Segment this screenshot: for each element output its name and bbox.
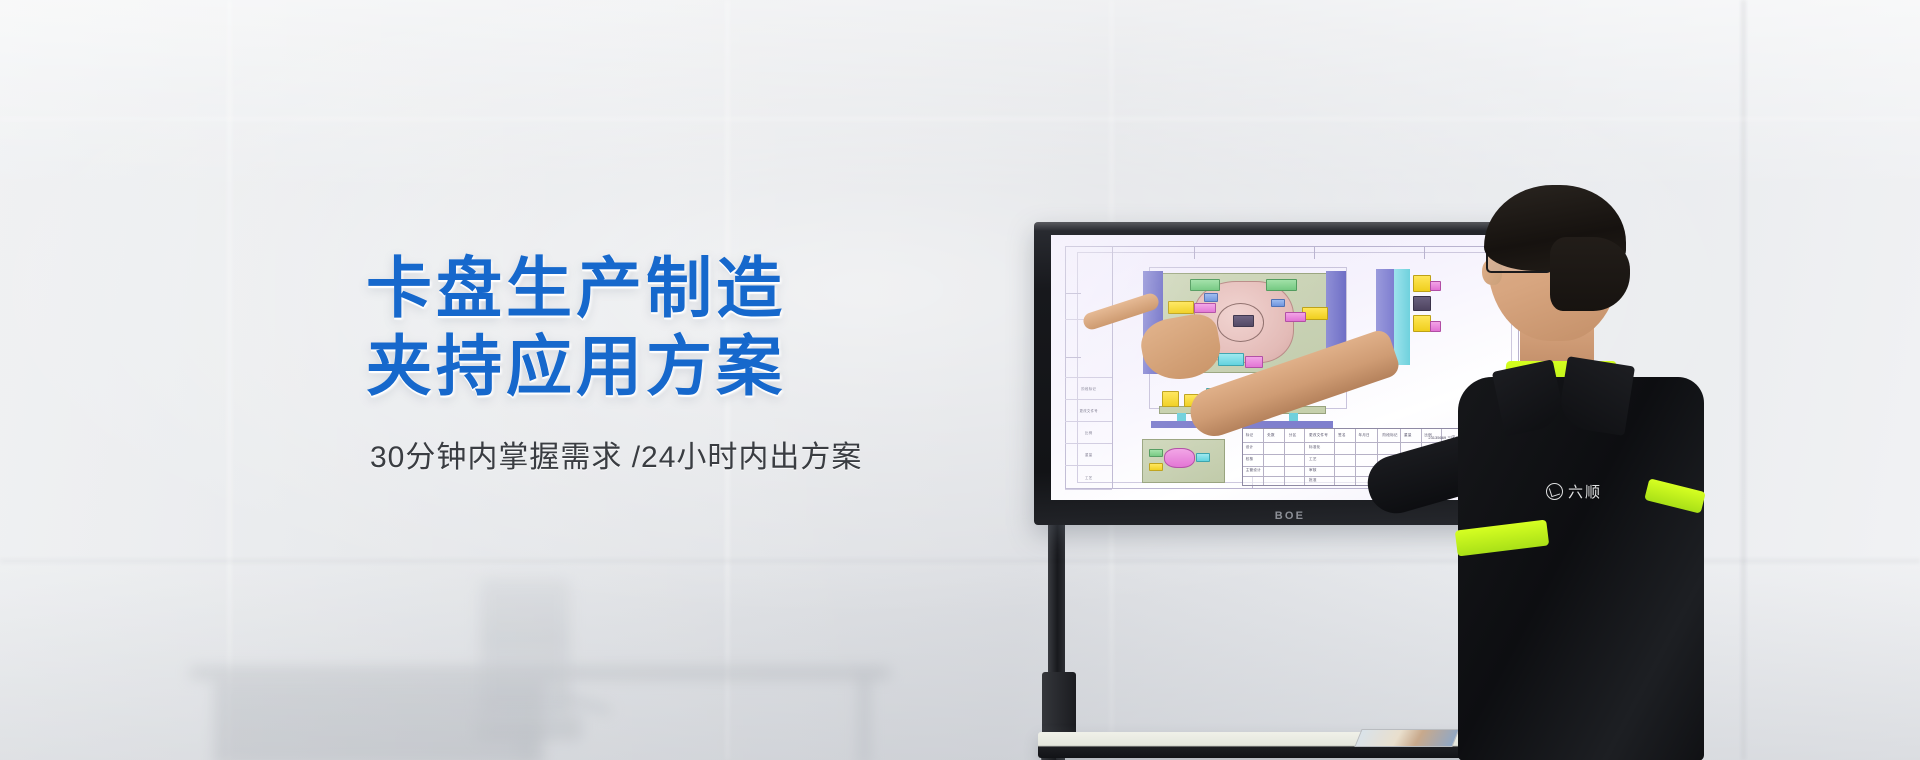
left-col-label: 重量 [1065,443,1112,466]
tb-header: 标记 [1246,433,1254,438]
headline-line-1: 卡盘生产制造 [366,250,1006,328]
sheet-left-column: 阶段标记 更改文件号 比例 重量 工艺 [1065,246,1113,490]
clamp-green [1149,449,1162,457]
tb-header: 年月日 [1358,433,1369,438]
clamp-magenta [1194,303,1215,313]
page-title: 卡盘生产制造 夹持应用方案 [366,250,1006,406]
hero-banner: 卡盘生产制造 夹持应用方案 30分钟内掌握需求 /24小时内出方案 [0,0,1920,760]
sheet-tick [1314,246,1315,259]
iso-workpiece [1164,448,1195,469]
circle-mark-icon [1546,483,1563,500]
tb-stage-label: 阶段标记 [1383,433,1398,438]
clamp-magenta [1285,312,1306,322]
tb-header: 分区 [1289,433,1297,438]
clamp-magenta [1245,356,1264,369]
presenter-torso [1458,377,1704,760]
tb-header: 签名 [1338,433,1346,438]
clamp-yellow [1162,391,1179,407]
company-logo: 六顺 [1546,481,1602,502]
left-col-label: 更改文件号 [1065,399,1112,422]
subheadline: 30分钟内掌握需求 /24小时内出方案 [370,432,1006,476]
clamp-green [1266,279,1297,292]
tb-row: 设计 [1246,445,1254,450]
clamp-cyan [1218,353,1244,366]
tb-row: 批准 [1309,478,1317,483]
clamp-cyan [1196,453,1209,463]
tb-header: 处数 [1267,433,1275,438]
locator-dark [1233,315,1254,328]
tb-row: 工艺 [1309,457,1317,462]
left-col-label: 工艺 [1065,465,1112,490]
tb-header: 更改文件号 [1309,433,1328,438]
headline-block: 卡盘生产制造 夹持应用方案 30分钟内掌握需求 /24小时内出方案 [366,250,1006,476]
clamp-yellow [1168,301,1194,314]
clamp-green [1190,279,1221,292]
left-col-label: 比例 [1065,421,1112,444]
locator-blue [1204,293,1218,301]
tb-row: 主管设计 [1246,468,1261,473]
stand-post-left [1048,522,1065,760]
isometric-view [1142,439,1225,483]
elevation-leg [1289,413,1298,422]
left-col-label: 阶段标记 [1065,377,1112,400]
presenter: 六顺 [1400,185,1760,760]
elevation-leg [1177,413,1186,422]
tb-row: 标准化 [1309,445,1320,450]
tb-row: 校核 [1246,457,1254,462]
locator-blue [1271,299,1285,307]
tb-row: 审核 [1309,468,1317,473]
headline-line-2: 夹持应用方案 [366,328,1006,406]
sheet-tick [1194,246,1195,259]
presenter-hair-side [1550,237,1630,311]
logo-text: 六顺 [1568,481,1602,502]
clamp-yellow [1149,463,1162,471]
